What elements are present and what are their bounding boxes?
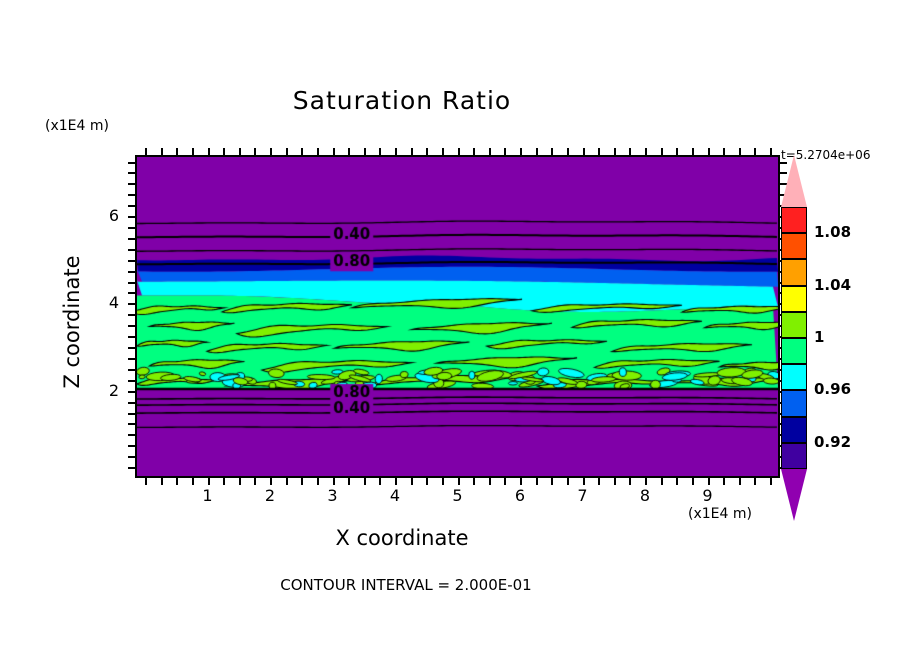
x-axis-tick (739, 148, 741, 155)
x-axis-tick (614, 478, 616, 485)
colorbar-band[interactable] (781, 364, 807, 390)
x-axis-tick (145, 148, 147, 155)
x-axis-tick-label: 2 (255, 486, 285, 505)
y-axis-tick (128, 314, 135, 316)
x-axis-tick (254, 478, 256, 485)
colorbar-tick-label: 0.96 (814, 380, 851, 398)
colorbar-bottom-arrow (781, 469, 807, 521)
x-axis-title: X coordinate (0, 526, 904, 550)
y-axis-tick (128, 271, 135, 273)
x-axis-tick (223, 478, 225, 485)
x-axis-tick (301, 148, 303, 155)
x-axis-tick (473, 478, 475, 485)
x-axis-tick (192, 478, 194, 485)
x-axis-tick (551, 478, 553, 485)
x-axis-tick (270, 148, 272, 155)
x-axis-tick (661, 478, 663, 485)
x-axis-tick (739, 478, 741, 485)
colorbar[interactable]: 1.081.0410.960.92 (781, 207, 807, 469)
y-axis-tick (128, 347, 135, 349)
x-axis-tick (161, 148, 163, 155)
x-axis-tick (379, 478, 381, 485)
x-axis-tick (551, 148, 553, 155)
x-axis-tick (489, 478, 491, 485)
x-axis-tick (458, 478, 460, 485)
x-axis-tick (458, 148, 460, 155)
y-axis-tick-label: 2 (95, 381, 119, 400)
y-axis-tick (128, 445, 135, 447)
y-axis-tick (128, 380, 135, 382)
x-axis-tick (520, 148, 522, 155)
y-axis-tick (128, 391, 135, 393)
y-axis-tick (128, 162, 135, 164)
y-axis-tick (128, 216, 135, 218)
x-axis-tick (239, 478, 241, 485)
x-axis-tick-label: 1 (193, 486, 223, 505)
x-axis-tick (426, 148, 428, 155)
x-axis-tick (348, 148, 350, 155)
x-axis-tick (645, 148, 647, 155)
y-axis-tick (128, 456, 135, 458)
x-axis-tick (754, 478, 756, 485)
x-axis-tick-label: 4 (380, 486, 410, 505)
colorbar-band[interactable] (781, 207, 807, 233)
x-axis-tick-label: 6 (505, 486, 535, 505)
colorbar-band[interactable] (781, 390, 807, 416)
x-axis-tick (286, 148, 288, 155)
x-axis-tick (348, 478, 350, 485)
x-axis-tick (629, 478, 631, 485)
x-axis-tick (536, 148, 538, 155)
x-axis-tick (723, 478, 725, 485)
y-axis-tick (128, 467, 135, 469)
colorbar-band[interactable] (781, 286, 807, 312)
x-axis-tick (426, 478, 428, 485)
y-axis-tick (128, 336, 135, 338)
x-axis-tick (223, 148, 225, 155)
y-axis-tick (128, 434, 135, 436)
x-axis-tick (411, 148, 413, 155)
colorbar-tick-label: 0.92 (814, 433, 851, 451)
colorbar-band[interactable] (781, 417, 807, 443)
x-axis-tick (598, 478, 600, 485)
y-axis-tick-label: 6 (95, 206, 119, 225)
x-axis-tick (708, 478, 710, 485)
x-axis-tick (176, 478, 178, 485)
x-axis-tick (676, 148, 678, 155)
y-axis-tick (128, 325, 135, 327)
x-axis-tick (176, 148, 178, 155)
contour-field-canvas (137, 157, 778, 476)
x-axis-title-text: X coordinate (335, 526, 468, 550)
x-axis-tick (567, 148, 569, 155)
y-axis-tick (128, 358, 135, 360)
x-axis-tick-label: 5 (443, 486, 473, 505)
x-axis-tick (504, 478, 506, 485)
plot-title-text: Saturation Ratio (293, 86, 511, 115)
y-axis-tick (128, 423, 135, 425)
x-axis-tick (567, 478, 569, 485)
colorbar-band[interactable] (781, 312, 807, 338)
y-axis-tick (128, 260, 135, 262)
y-axis-tick (128, 249, 135, 251)
x-axis-tick (676, 478, 678, 485)
x-axis-tick (645, 478, 647, 485)
x-axis-tick (192, 148, 194, 155)
x-axis-tick (692, 148, 694, 155)
y-axis-unit-label: (x1E4 m) (45, 118, 109, 134)
x-axis-tick (208, 148, 210, 155)
x-axis-tick (161, 478, 163, 485)
y-axis-tick (780, 172, 787, 174)
x-axis-tick (442, 478, 444, 485)
x-axis-tick (145, 478, 147, 485)
y-axis-tick (128, 183, 135, 185)
y-axis-tick (128, 369, 135, 371)
x-axis-tick (489, 148, 491, 155)
x-axis-tick (301, 478, 303, 485)
page-title: Saturation Ratio (0, 86, 904, 115)
x-axis-tick (536, 478, 538, 485)
y-axis-tick-label: 4 (95, 293, 119, 312)
x-axis-tick (364, 478, 366, 485)
y-axis-tick (128, 238, 135, 240)
x-axis-tick (254, 148, 256, 155)
x-axis-tick (364, 148, 366, 155)
colorbar-tick-label: 1.08 (814, 223, 851, 241)
x-axis-tick (333, 148, 335, 155)
x-axis-tick (395, 148, 397, 155)
y-axis-tick (128, 205, 135, 207)
x-axis-tick (520, 478, 522, 485)
contour-interval-text: CONTOUR INTERVAL = 2.000E-01 (280, 576, 531, 594)
y-axis-tick (128, 303, 135, 305)
x-axis-tick (754, 148, 756, 155)
x-axis-tick-label: 3 (318, 486, 348, 505)
y-axis-tick (780, 162, 787, 164)
contour-interval-note: CONTOUR INTERVAL = 2.000E-01 (0, 576, 904, 594)
x-axis-tick-label: 9 (693, 486, 723, 505)
y-axis-tick (128, 282, 135, 284)
x-axis-tick (770, 478, 772, 485)
colorbar-band[interactable] (781, 233, 807, 259)
x-axis-tick (317, 478, 319, 485)
x-axis-tick (583, 478, 585, 485)
colorbar-tick-label: 1 (814, 328, 824, 346)
contour-plot-area[interactable] (135, 155, 780, 478)
x-axis-tick (770, 148, 772, 155)
x-axis-tick (629, 148, 631, 155)
x-axis-tick (286, 478, 288, 485)
x-axis-tick (442, 148, 444, 155)
y-axis-tick (780, 183, 787, 185)
x-axis-tick (583, 148, 585, 155)
colorbar-band[interactable] (781, 259, 807, 285)
x-axis-tick (708, 148, 710, 155)
y-axis-tick (128, 172, 135, 174)
x-axis-tick (504, 148, 506, 155)
y-axis-tick (128, 292, 135, 294)
x-axis-tick (239, 148, 241, 155)
x-axis-tick (692, 478, 694, 485)
y-axis-tick (128, 227, 135, 229)
x-axis-tick (333, 478, 335, 485)
y-axis-tick (128, 413, 135, 415)
y-axis-tick (128, 194, 135, 196)
y-axis-tick (128, 402, 135, 404)
x-axis-tick (661, 148, 663, 155)
x-axis-tick (723, 148, 725, 155)
x-axis-tick (614, 148, 616, 155)
x-axis-tick (473, 148, 475, 155)
x-axis-tick (208, 478, 210, 485)
x-axis-tick (379, 148, 381, 155)
colorbar-tick-label: 1.04 (814, 276, 851, 294)
x-axis-tick (598, 148, 600, 155)
y-axis-title: Z coordinate (60, 232, 84, 412)
x-axis-tick-label: 8 (630, 486, 660, 505)
x-axis-unit-label: (x1E4 m) (688, 506, 752, 522)
x-axis-tick (317, 148, 319, 155)
x-axis-tick (270, 478, 272, 485)
x-axis-tick-label: 7 (568, 486, 598, 505)
x-axis-tick (411, 478, 413, 485)
colorbar-band[interactable] (781, 338, 807, 364)
colorbar-band[interactable] (781, 443, 807, 469)
x-axis-tick (395, 478, 397, 485)
